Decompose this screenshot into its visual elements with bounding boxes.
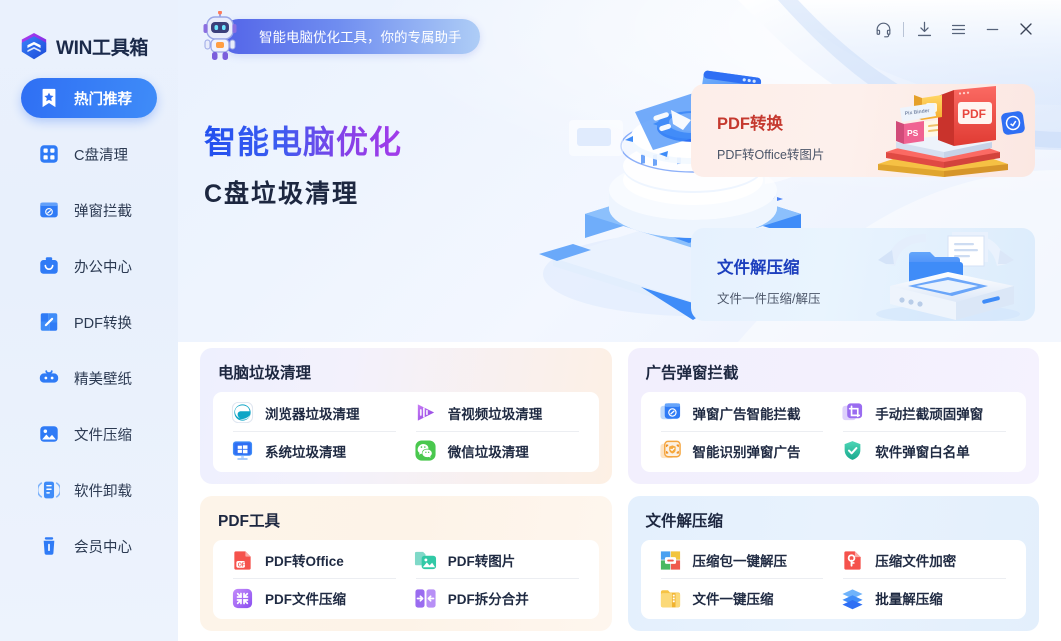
folder-zip-icon [659,587,682,610]
tool-item-whitelist[interactable]: 软件弹窗白名单 [833,432,1016,470]
robot-mascot-icon [197,11,243,61]
assistant-text: 智能电脑优化工具，你的专属助手 [221,19,480,54]
tool-item-label: 批量解压缩 [875,588,943,608]
block-window-icon [38,199,60,221]
zip-machine-illustration [856,228,1031,321]
sidebar-item-label: 热门推荐 [74,88,132,109]
tool-item-manual-block[interactable]: 手动拦截顽固弹窗 [833,394,1016,432]
promo-desc: PDF转Office转图片 [717,144,824,163]
tool-item-pdf-to-office[interactable]: OF PDF转Office [223,542,406,580]
promo-text: PDF转换 PDF转Office转图片 [717,110,824,163]
bookmark-star-icon [38,87,60,109]
controls-divider [903,22,904,37]
tool-card-archive: 文件解压缩 [628,496,1040,632]
tool-card-adblock: 广告弹窗拦截 弹窗广 [628,348,1040,484]
wallpaper-game-icon [38,367,60,389]
assistant-banner[interactable]: 智能电脑优化工具，你的专属助手 [197,11,480,61]
media-play-icon [414,401,437,424]
tool-item-label: PDF转图片 [448,550,516,570]
pdf-split-merge-icon [414,587,437,610]
tool-card-items: 压缩包一键解压 压缩文件加密 [641,540,1027,620]
pdf-to-image-icon [414,549,437,572]
download-button[interactable] [907,14,941,44]
block-popup-icon [659,401,682,424]
sidebar-item-label: 弹窗拦截 [74,200,132,221]
promo-text: 文件解压缩 文件一件压缩/解压 [717,254,820,307]
sidebar-item-wallpaper[interactable]: 精美壁纸 [21,358,157,398]
archive-lock-icon [841,549,864,572]
promo-title: PDF转换 [717,110,824,134]
trash-member-icon [38,535,60,557]
hero-title: 智能电脑优化 [204,117,402,163]
pdf-convert-icon [38,311,60,333]
tool-item-browser-clean[interactable]: 浏览器垃圾清理 [223,394,406,432]
grid-squares-icon [38,143,60,165]
tool-item-smart-detect[interactable]: 智能识别弹窗广告 [651,432,834,470]
sidebar-item-popup-block[interactable]: 弹窗拦截 [21,190,157,230]
uninstall-icon [38,479,60,501]
brand: WIN工具箱 [0,0,178,66]
minimize-icon [983,20,1002,39]
tool-card-items: 弹窗广告智能拦截 [641,392,1027,472]
tool-item-popup-block[interactable]: 弹窗广告智能拦截 [651,394,834,432]
tool-card-title: 广告弹窗拦截 [646,361,1027,383]
tool-item-batch-extract[interactable]: 批量解压缩 [833,579,1016,617]
image-compress-icon [38,423,60,445]
close-button[interactable] [1009,14,1043,44]
sidebar-item-compress[interactable]: 文件压缩 [21,414,157,454]
tool-item-label: 智能识别弹窗广告 [693,441,801,461]
tool-item-label: PDF拆分合并 [448,588,529,608]
shield-logo-icon [19,32,49,62]
svg-text:PS: PS [907,128,919,138]
tool-item-label: 弹窗广告智能拦截 [693,403,801,423]
wechat-icon [414,439,437,462]
promo-desc: 文件一件压缩/解压 [717,288,820,307]
promo-title: 文件解压缩 [717,254,820,278]
tool-item-pdf-compress[interactable]: PDF文件压缩 [223,579,406,617]
tool-card-title: 电脑垃圾清理 [218,361,599,383]
hamburger-menu-icon [949,20,968,39]
tool-item-wechat-clean[interactable]: 微信垃圾清理 [406,432,589,470]
archive-extract-icon [659,549,682,572]
tool-item-label: PDF转Office [265,550,344,570]
sidebar-item-label: 文件压缩 [74,424,132,445]
hero-subtitle: C盘垃圾清理 [204,174,402,210]
tool-item-folder-compress[interactable]: 文件一键压缩 [651,579,834,617]
sidebar-nav: 热门推荐 C盘清理 [0,78,178,566]
scan-shield-icon [659,439,682,462]
svg-text:PDF: PDF [962,107,986,121]
tool-card-grid: 电脑垃圾清理 浏览器垃圾清理 [200,348,1039,631]
sidebar-item-label: 会员中心 [74,536,132,557]
headset-icon [874,20,893,39]
tool-card-title: PDF工具 [218,509,599,531]
tool-card-items: OF PDF转Office [213,540,599,620]
tool-item-label: 系统垃圾清理 [265,441,346,461]
tool-card-items: 浏览器垃圾清理 [213,392,599,472]
tool-item-label: 压缩文件加密 [875,550,956,570]
layers-batch-icon [841,587,864,610]
tool-item-label: 软件弹窗白名单 [875,441,970,461]
sidebar-item-label: 软件卸载 [74,480,132,501]
app-window: WIN工具箱 热门推荐 [0,0,1061,641]
main-content: 智能电脑优化工具，你的专属助手 [178,0,1061,641]
tool-item-label: 音视频垃圾清理 [448,403,543,423]
sidebar-item-hot[interactable]: 热门推荐 [21,78,157,118]
tool-card-clean: 电脑垃圾清理 浏览器垃圾清理 [200,348,612,484]
tool-item-extract[interactable]: 压缩包一键解压 [651,542,834,580]
shield-check-icon [841,439,864,462]
briefcase-icon [38,255,60,277]
sidebar-item-office[interactable]: 办公中心 [21,246,157,286]
hero-banner: 智能电脑优化工具，你的专属助手 [178,0,1061,342]
sidebar: WIN工具箱 热门推荐 [0,0,178,641]
sidebar-item-cdisk[interactable]: C盘清理 [21,134,157,174]
hero-copy: 智能电脑优化 C盘垃圾清理 [204,117,402,210]
sidebar-item-member[interactable]: 会员中心 [21,526,157,566]
tool-item-archive-encrypt[interactable]: 压缩文件加密 [833,542,1016,580]
pdf-stack-illustration: PDF PS Pix Binder [856,84,1031,177]
close-icon [1016,19,1036,39]
tool-card-title: 文件解压缩 [646,509,1027,531]
pdf-to-office-icon: OF [231,549,254,572]
brand-name: WIN工具箱 [56,33,148,60]
edge-browser-icon [231,401,254,424]
sidebar-item-pdf[interactable]: PDF转换 [21,302,157,342]
tool-item-label: PDF文件压缩 [265,588,346,608]
promo-card-zip[interactable]: 文件解压缩 文件一件压缩/解压 [691,228,1035,321]
minimize-button[interactable] [975,14,1009,44]
sidebar-item-label: 办公中心 [74,256,132,277]
sidebar-item-label: 精美壁纸 [74,368,132,389]
tool-card-pdf: PDF工具 OF PDF转Office [200,496,612,632]
tool-item-pdf-to-image[interactable]: PDF转图片 [406,542,589,580]
window-controls [866,14,1043,44]
sidebar-item-label: C盘清理 [74,144,128,165]
svg-text:OF: OF [238,562,246,568]
tool-item-label: 浏览器垃圾清理 [265,403,360,423]
sidebar-item-uninstall[interactable]: 软件卸载 [21,470,157,510]
tool-item-pdf-split-merge[interactable]: PDF拆分合并 [406,579,589,617]
tool-item-label: 文件一键压缩 [693,588,774,608]
sidebar-item-label: PDF转换 [74,312,132,333]
tool-item-label: 手动拦截顽固弹窗 [875,403,983,423]
menu-button[interactable] [941,14,975,44]
tool-item-label: 压缩包一键解压 [693,550,788,570]
tool-item-media-clean[interactable]: 音视频垃圾清理 [406,394,589,432]
manual-crop-block-icon [841,401,864,424]
support-headset-button[interactable] [866,14,900,44]
download-icon [915,20,934,39]
promo-card-pdf[interactable]: PDF转换 PDF转Office转图片 [691,84,1035,177]
windows-monitor-icon [231,439,254,462]
tool-item-label: 微信垃圾清理 [448,441,529,461]
tool-item-system-clean[interactable]: 系统垃圾清理 [223,432,406,470]
pdf-compress-icon [231,587,254,610]
